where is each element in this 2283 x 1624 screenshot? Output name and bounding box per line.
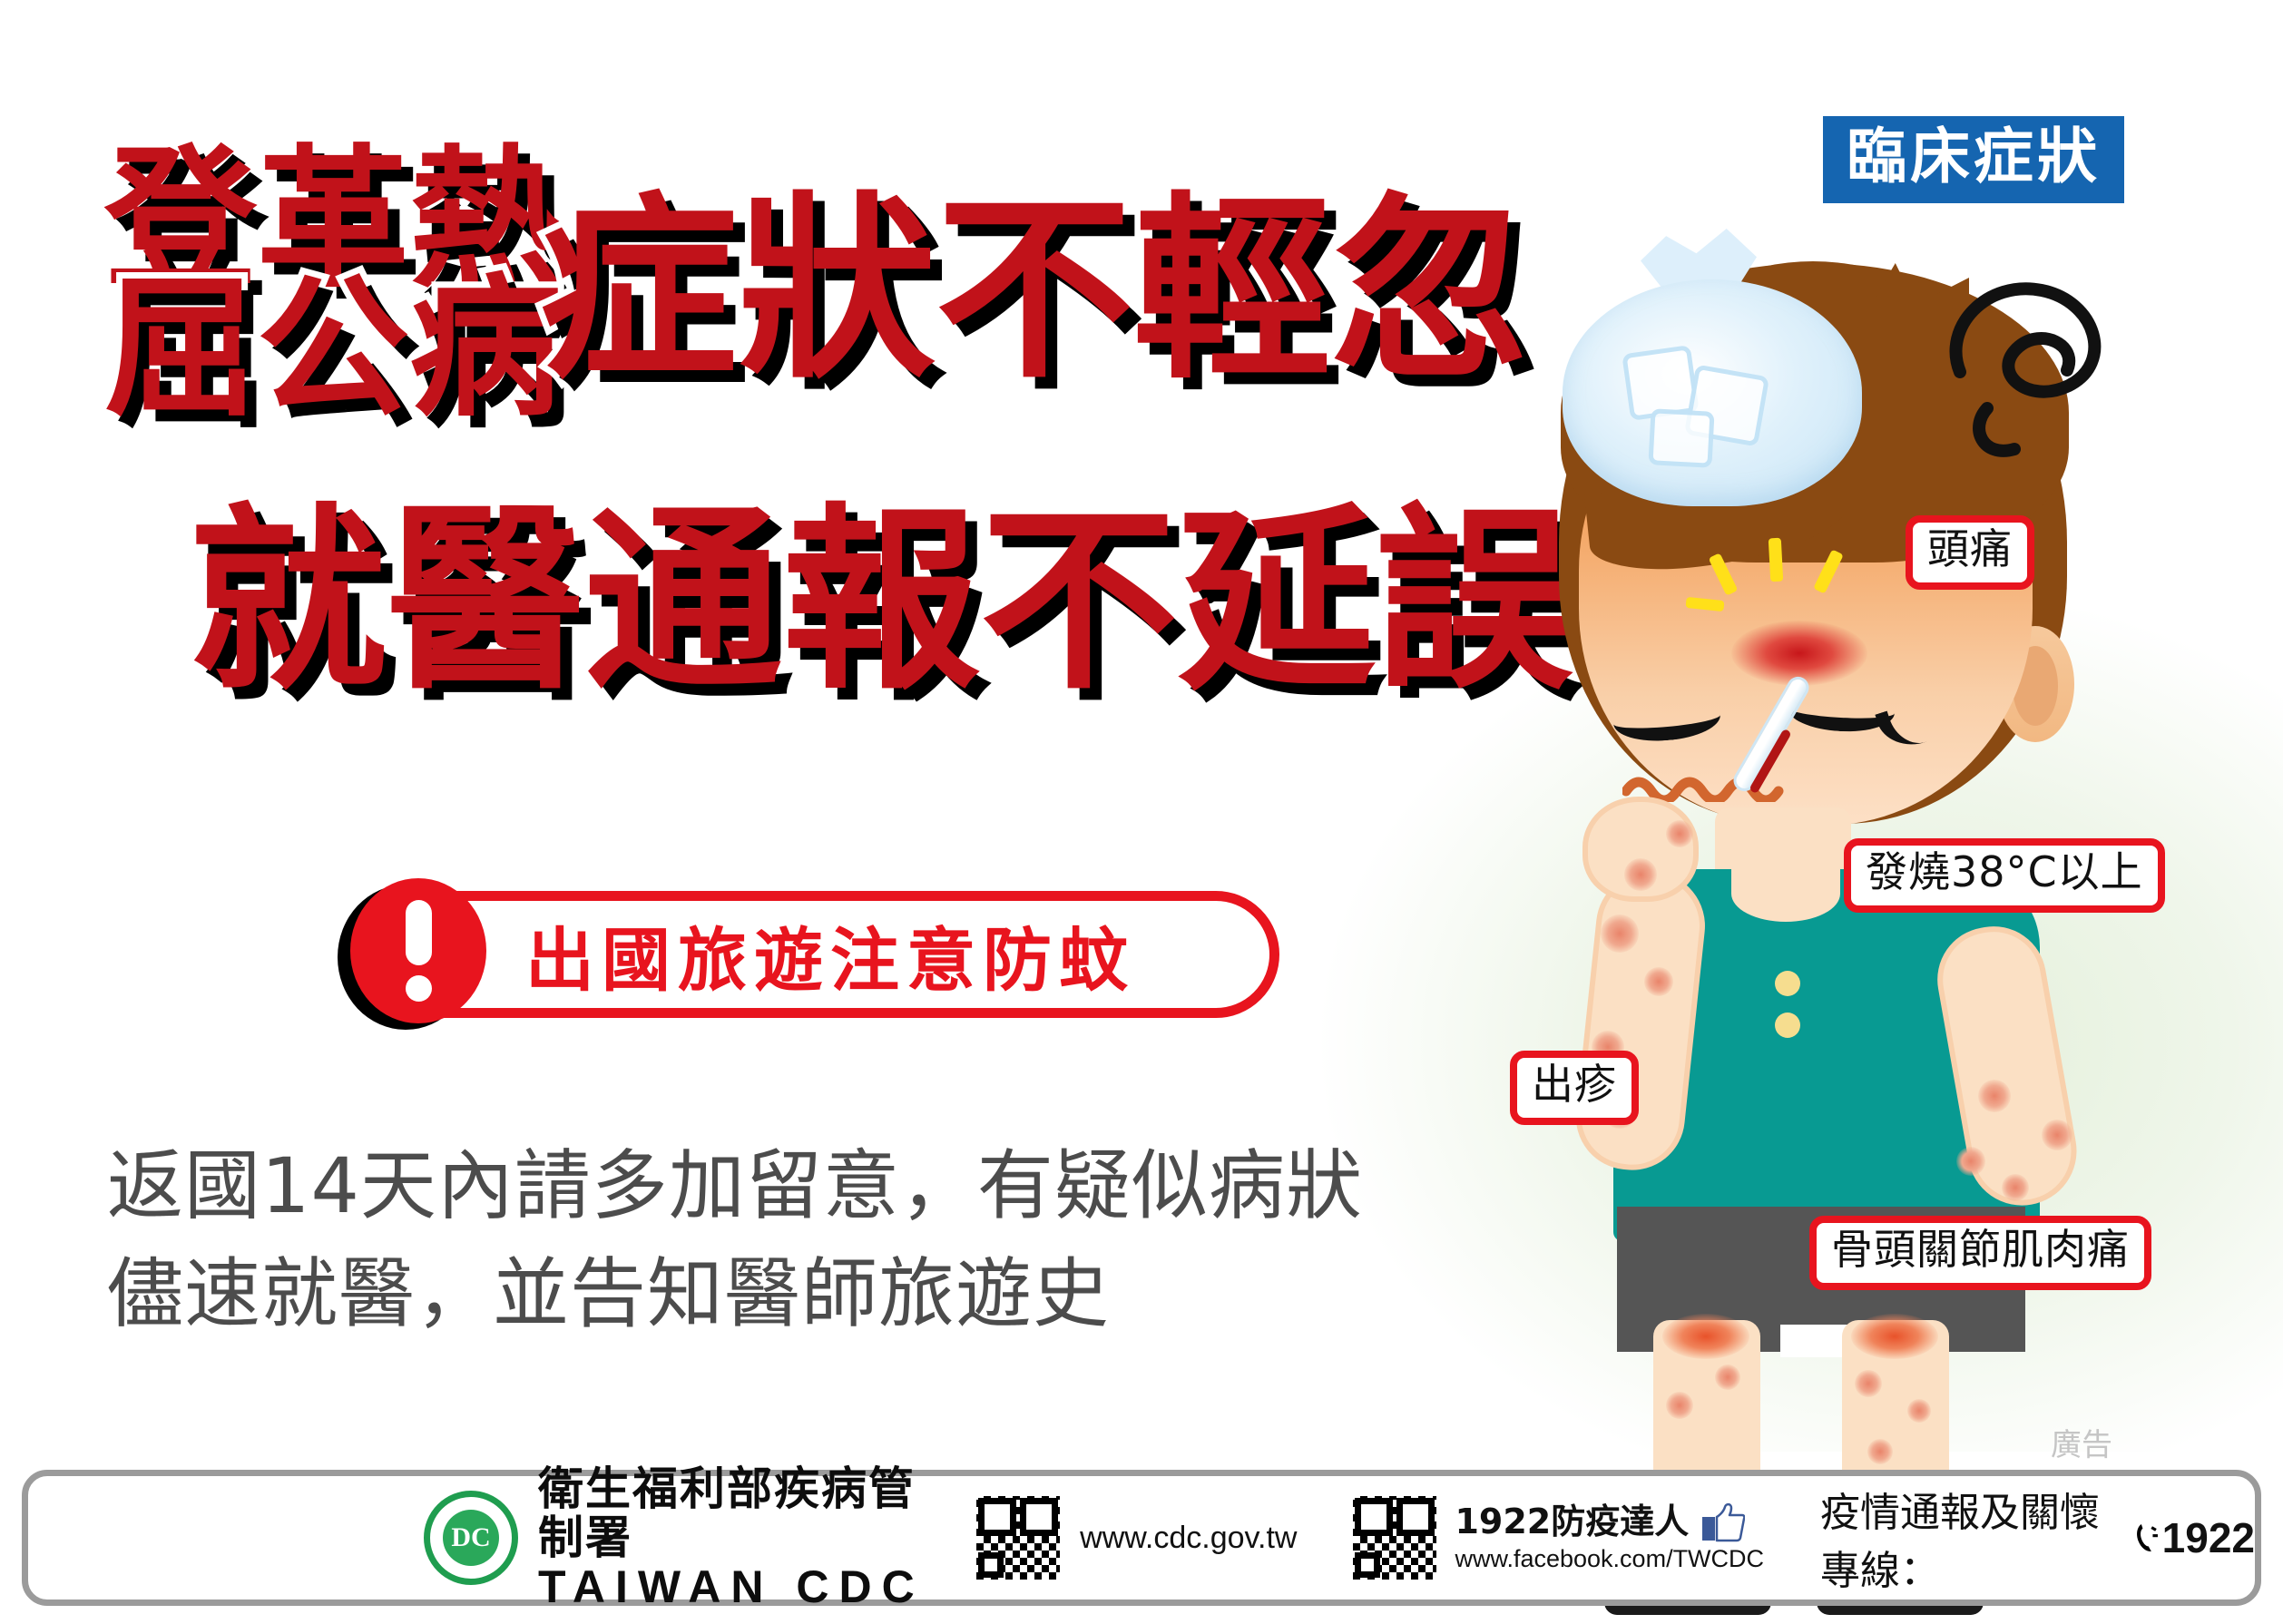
hotline-number: 1922 xyxy=(2162,1513,2255,1562)
rash-spot xyxy=(1907,1399,1931,1423)
knee-pain-left xyxy=(1662,1314,1749,1359)
footer-bar: DC 衛生福利部疾病管制署 TAIWAN CDC www.cdc.gov.tw … xyxy=(22,1470,2261,1606)
poster-canvas: 登革熱 屈公病 症狀不輕忽 就醫通報不延誤 臨床症狀 出國旅遊注意防蚊 返國14… xyxy=(0,0,2283,1624)
hotline-label: 疫情通報及關懷專線： xyxy=(1820,1480,2134,1596)
agency-name-block: 衛生福利部疾病管制署 TAIWAN CDC xyxy=(538,1464,927,1611)
shirt-button xyxy=(1775,971,1800,996)
symptom-label-joint-pain: 骨頭關節肌肉痛 xyxy=(1809,1216,2151,1290)
website-url[interactable]: www.cdc.gov.tw xyxy=(1080,1521,1297,1556)
facebook-page-name: 1922防疫達人 xyxy=(1455,1503,1689,1541)
ice-cube xyxy=(1648,408,1714,468)
hotline-block: 疫情通報及關懷專線： 1922 xyxy=(1820,1480,2255,1596)
cdc-logo-icon: DC xyxy=(424,1491,518,1585)
facebook-block[interactable]: 1922防疫達人 www.facebook.com/TWCDC xyxy=(1455,1502,1764,1573)
symptom-label-fever: 發燒38°C以上 xyxy=(1844,838,2165,913)
rash-spot xyxy=(1978,1080,2011,1112)
rash-spot xyxy=(2002,1174,2029,1201)
thumbs-up-icon xyxy=(1701,1502,1745,1542)
qr-code-facebook[interactable] xyxy=(1353,1496,1436,1580)
pain-flash xyxy=(1769,538,1783,582)
rash-spot xyxy=(1956,1147,1985,1176)
agency-name-zh: 衛生福利部疾病管制署 xyxy=(538,1464,927,1562)
shirt-button xyxy=(1775,1013,1800,1038)
headline-line-3: 症狀不輕忽 xyxy=(540,192,1529,390)
body-copy: 返國14天內請多加留意，有疑似病狀 儘速就醫，並告知醫師旅遊史 xyxy=(107,1132,1363,1349)
rash-spot xyxy=(1666,1392,1693,1419)
headline-line-4: 就醫通報不延誤 xyxy=(189,504,1573,701)
travel-advisory-callout: 出國旅遊注意防蚊 xyxy=(354,891,1279,1018)
symptom-label-headache: 頭痛 xyxy=(1906,515,2034,590)
facebook-page-name-row: 1922防疫達人 xyxy=(1455,1502,1764,1542)
rash-spot xyxy=(1867,1439,1893,1464)
exclamation-dot xyxy=(406,975,432,1002)
rash-spot xyxy=(1855,1370,1882,1397)
rash-spot xyxy=(1624,858,1657,891)
agency-name-en: TAIWAN CDC xyxy=(538,1562,927,1611)
symptom-label-rash: 出疹 xyxy=(1510,1051,1639,1125)
facebook-url: www.facebook.com/TWCDC xyxy=(1455,1545,1764,1573)
phone-icon xyxy=(2134,1519,2159,1557)
qr-code-website[interactable] xyxy=(976,1496,1060,1580)
dizzy-swirl-icon xyxy=(1933,263,2169,472)
travel-advisory-text: 出國旅遊注意防蚊 xyxy=(525,905,1135,1004)
rash-spot xyxy=(1666,820,1693,847)
rash-spot xyxy=(1601,915,1639,953)
cdc-logo-initials: DC xyxy=(443,1510,499,1566)
advertisement-mark: 廣告 xyxy=(2051,1420,2112,1464)
rash-spot xyxy=(1715,1365,1740,1390)
exclamation-icon xyxy=(350,878,486,1023)
shirt-collar xyxy=(1731,866,1840,922)
knee-pain-right xyxy=(1851,1314,1938,1359)
rash-spot xyxy=(2042,1120,2072,1150)
rash-spot xyxy=(1644,967,1673,996)
headline-line-2: 屈公病 xyxy=(104,272,562,425)
exclamation-bar xyxy=(406,900,432,965)
body-copy-line-2: 儘速就醫，並告知醫師旅遊史 xyxy=(107,1240,1363,1348)
body-copy-line-1: 返國14天內請多加留意，有疑似病狀 xyxy=(107,1132,1363,1240)
